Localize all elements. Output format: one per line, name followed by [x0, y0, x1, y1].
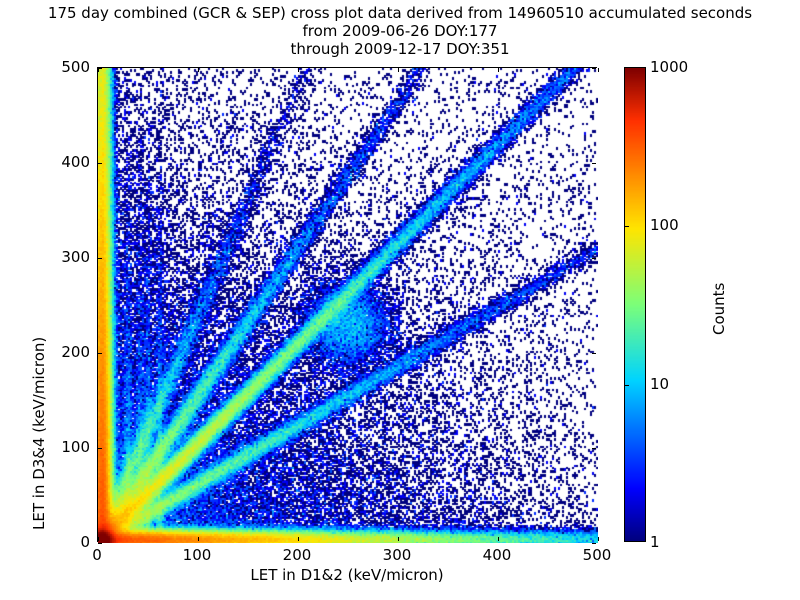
y-tick-left — [98, 448, 102, 449]
y-tick-left — [98, 258, 102, 259]
colorbar-tick — [625, 385, 629, 386]
x-tick-bottom — [398, 537, 399, 541]
colorbar-tick-label: 1 — [650, 533, 660, 551]
density-heatmap — [98, 68, 598, 543]
y-tick-right — [592, 353, 596, 354]
y-tick-left — [98, 543, 102, 544]
colorbar-tick-label: 10 — [650, 375, 669, 393]
colorbar-tick-label: 1000 — [650, 58, 688, 76]
x-tick-label: 300 — [383, 546, 412, 564]
plot-title: 175 day combined (GCR & SEP) cross plot … — [0, 4, 800, 58]
colorbar-tick — [625, 226, 629, 227]
y-tick-left — [98, 163, 102, 164]
y-tick-right — [592, 448, 596, 449]
x-tick-bottom — [198, 537, 199, 541]
x-tick-bottom — [298, 537, 299, 541]
x-tick-label: 100 — [183, 546, 212, 564]
x-tick-top — [498, 68, 499, 72]
x-tick-top — [598, 68, 599, 72]
y-tick-right — [592, 543, 596, 544]
x-tick-top — [298, 68, 299, 72]
colorbar-title: Counts — [710, 283, 728, 335]
x-tick-label: 0 — [92, 546, 102, 564]
y-tick-right — [592, 163, 596, 164]
colorbar-axes — [624, 67, 646, 542]
y-tick-label: 400 — [40, 153, 90, 171]
y-axis-title: LET in D3&4 (keV/micron) — [30, 337, 48, 530]
y-tick-left — [98, 353, 102, 354]
y-tick-label: 500 — [40, 58, 90, 76]
x-tick-bottom — [598, 537, 599, 541]
figure-canvas: 175 day combined (GCR & SEP) cross plot … — [0, 0, 800, 600]
main-axes — [97, 67, 597, 542]
title-line-1: 175 day combined (GCR & SEP) cross plot … — [0, 4, 800, 22]
x-tick-label: 200 — [283, 546, 312, 564]
title-line-3: through 2009-12-17 DOY:351 — [0, 40, 800, 58]
x-tick-bottom — [98, 537, 99, 541]
x-tick-label: 500 — [583, 546, 612, 564]
title-line-2: from 2009-06-26 DOY:177 — [0, 22, 800, 40]
x-tick-top — [198, 68, 199, 72]
y-tick-left — [98, 68, 102, 69]
x-tick-bottom — [498, 537, 499, 541]
y-tick-label: 0 — [40, 533, 90, 551]
colorbar-tick-label: 100 — [650, 216, 679, 234]
y-tick-right — [592, 258, 596, 259]
x-axis-title: LET in D1&2 (keV/micron) — [97, 566, 597, 584]
y-tick-right — [592, 68, 596, 69]
x-tick-top — [398, 68, 399, 72]
colorbar-gradient — [625, 68, 645, 541]
y-tick-label: 300 — [40, 248, 90, 266]
x-tick-label: 400 — [483, 546, 512, 564]
